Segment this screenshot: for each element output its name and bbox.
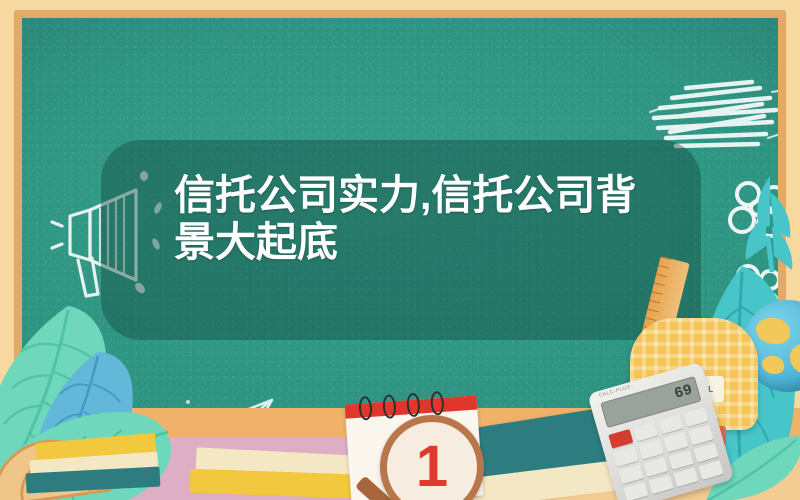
magnifier-icon: 1 (380, 415, 484, 500)
calculator-key[interactable] (693, 443, 718, 463)
poster-canvas: 信托公司实力,信托公司背景大起底 (0, 0, 800, 500)
magnifier-number: 1 (380, 415, 484, 500)
calculator-key[interactable] (618, 464, 643, 484)
globe-landmass-3 (762, 356, 784, 374)
title-line-2: 景大起底 (174, 219, 338, 265)
calculator-key[interactable] (643, 457, 668, 477)
calculator-key[interactable] (663, 432, 688, 452)
calculator-key[interactable] (668, 450, 693, 470)
globe-landmass-1 (756, 318, 790, 344)
calculator-key[interactable] (638, 439, 663, 459)
calculator-key[interactable] (683, 407, 708, 427)
title-line-1: 信托公司实力,信托公司背 (174, 172, 636, 218)
calculator-key[interactable] (648, 474, 673, 494)
calculator-key[interactable] (608, 429, 633, 449)
calculator-key[interactable] (623, 482, 648, 500)
calculator-key[interactable] (613, 447, 638, 467)
globe-landmass-2 (790, 344, 800, 374)
leaf-teal-small (740, 176, 800, 272)
calculator-key[interactable] (658, 415, 683, 435)
calculator-key[interactable] (698, 460, 723, 480)
calculator-key[interactable] (633, 422, 658, 442)
calculator-key[interactable] (673, 467, 698, 487)
calculator-key[interactable] (688, 425, 713, 445)
page-title: 信托公司实力,信托公司背景大起底 (174, 172, 694, 266)
